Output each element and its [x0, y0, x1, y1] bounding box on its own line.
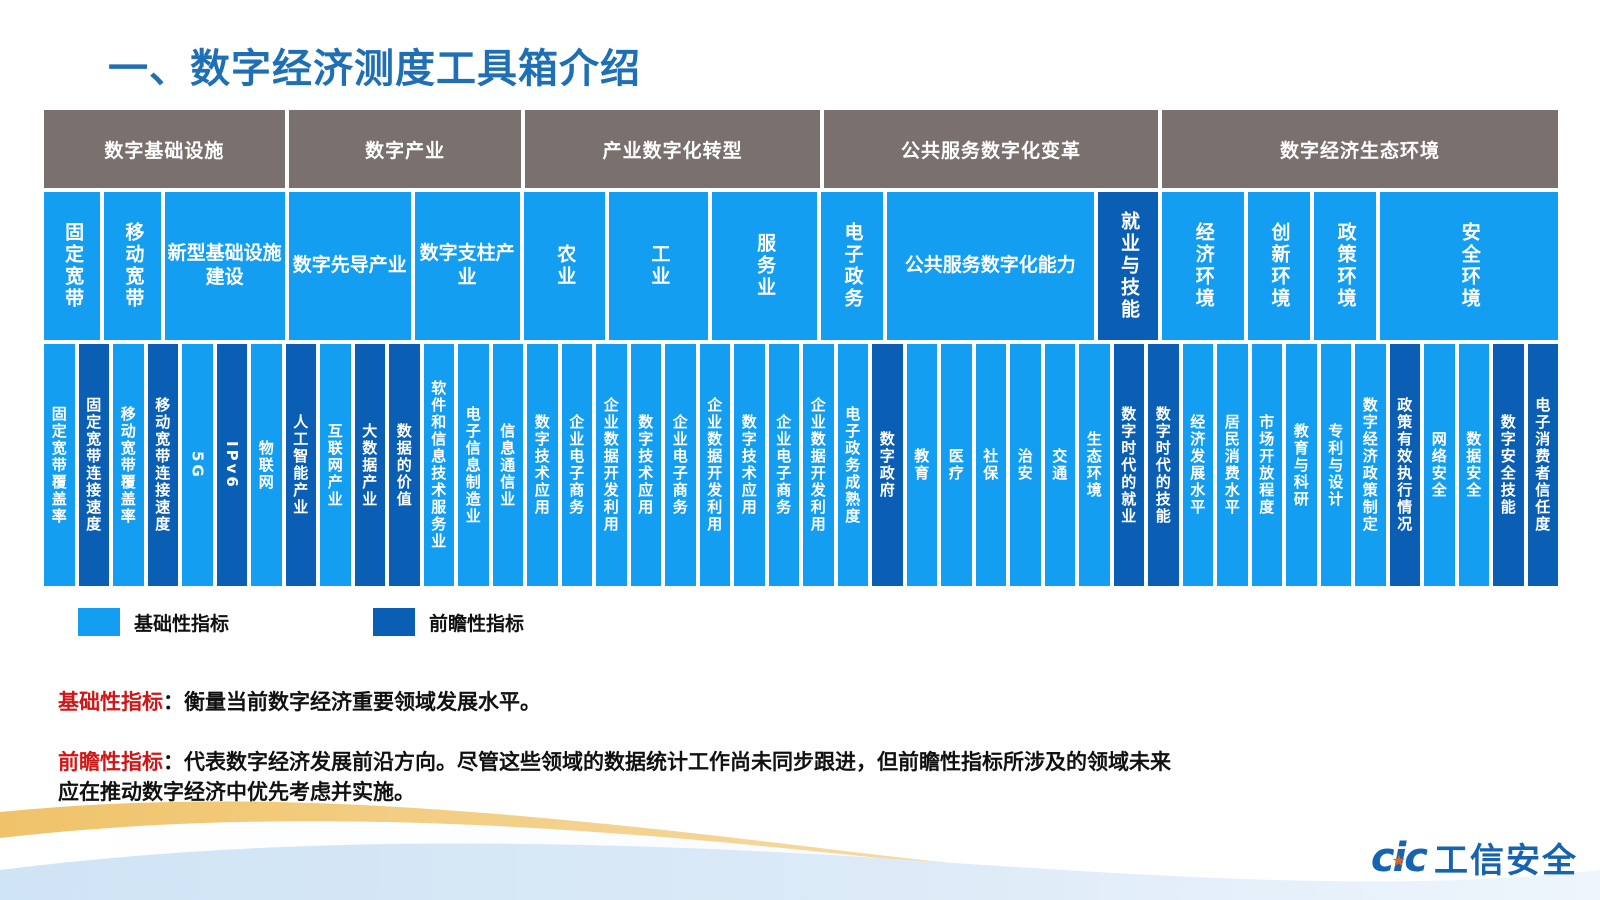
indicator-cell: 企业数据开发利用 [700, 344, 731, 586]
category-cell: 数字产业 [289, 110, 522, 188]
indicator-cell: 社保 [976, 344, 1007, 586]
indicator-cell: 人工智能产业 [286, 344, 317, 586]
note-key: 基础性指标 [58, 690, 163, 714]
indicator-cell: 数字时代的技能 [1148, 344, 1179, 586]
indicator-cell: 电子信息制造业 [458, 344, 489, 586]
indicator-matrix: 数字基础设施数字产业产业数字化转型公共服务数字化变革数字经济生态环境 固定宽带移… [44, 110, 1558, 586]
indicator-cell: 专利与设计 [1321, 344, 1352, 586]
category-cell: 产业数字化转型 [525, 110, 819, 188]
indicator-cell: 电子政务成熟度 [838, 344, 869, 586]
indicator-cell: 数字技术应用 [631, 344, 662, 586]
subcategory-cell: 移动宽带 [104, 192, 160, 340]
legend-swatch [78, 608, 120, 636]
logo-mark: cic ★ [1371, 835, 1426, 881]
logo-star-icon: ★ [1392, 851, 1404, 870]
indicator-cell: 移动宽带覆盖率 [113, 344, 144, 586]
subcategory-cell: 安全环境 [1380, 192, 1558, 340]
indicator-cell: 企业电子商务 [665, 344, 696, 586]
note-body: 代表数字经济发展前沿方向。尽管这些领域的数据统计工作尚未同步跟进，但前瞻性指标所… [58, 750, 1171, 804]
indicator-cell: 生态环境 [1079, 344, 1110, 586]
subcategory-cell: 数字支柱产业 [415, 192, 520, 340]
subcategory-cell: 数字先导产业 [289, 192, 411, 340]
legend-item: 前瞻性指标 [373, 608, 524, 636]
indicator-cell: 企业数据开发利用 [803, 344, 834, 586]
indicator-cell: 网络安全 [1424, 344, 1455, 586]
indicator-cell: 数字时代的就业 [1114, 344, 1145, 586]
indicator-cell: 教育与科研 [1286, 344, 1317, 586]
indicator-cell: 政策有效执行情况 [1390, 344, 1421, 586]
note-paragraph: 基础性指标：衡量当前数字经济重要领域发展水平。 [58, 688, 1188, 718]
indicator-cell: 交通 [1045, 344, 1076, 586]
indicator-cell: IPv6 [217, 344, 248, 586]
slide-root: 一、数字经济测度工具箱介绍 数字基础设施数字产业产业数字化转型公共服务数字化变革… [0, 0, 1600, 900]
indicator-cell: 数字技术应用 [527, 344, 558, 586]
indicator-cell: 企业电子商务 [562, 344, 593, 586]
indicator-cell: 互联网产业 [320, 344, 351, 586]
indicator-cell: 企业数据开发利用 [596, 344, 627, 586]
category-cell: 数字基础设施 [44, 110, 285, 188]
indicator-cell: 数据安全 [1459, 344, 1490, 586]
indicator-cell: 5G [182, 344, 213, 586]
subcategory-cell: 工业 [609, 192, 708, 340]
subcategory-cell: 服务业 [712, 192, 817, 340]
indicator-cell: 物联网 [251, 344, 282, 586]
note-paragraph: 前瞻性指标：代表数字经济发展前沿方向。尽管这些领域的数据统计工作尚未同步跟进，但… [58, 748, 1188, 808]
indicator-cell: 软件和信息技术服务业 [424, 344, 455, 586]
indicator-cell: 数字经济政策制定 [1355, 344, 1386, 586]
indicator-cell: 治安 [1010, 344, 1041, 586]
indicator-cell: 数据的价值 [389, 344, 420, 586]
brand-logo: cic ★ 工信安全 [1371, 833, 1578, 882]
legend-swatch [373, 608, 415, 636]
category-cell: 数字经济生态环境 [1162, 110, 1558, 188]
note-key: 前瞻性指标 [58, 750, 163, 774]
legend-item: 基础性指标 [78, 608, 229, 636]
subcategory-cell: 电子政务 [821, 192, 883, 340]
indicator-row: 固定宽带覆盖率固定宽带连接速度移动宽带覆盖率移动宽带连接速度5GIPv6物联网人… [44, 344, 1558, 586]
legend: 基础性指标前瞻性指标 [78, 608, 524, 636]
indicator-cell: 医疗 [941, 344, 972, 586]
subcategory-cell: 经济环境 [1162, 192, 1243, 340]
indicator-cell: 教育 [907, 344, 938, 586]
indicator-cell: 数字安全技能 [1493, 344, 1524, 586]
page-title: 一、数字经济测度工具箱介绍 [108, 36, 641, 94]
indicator-cell: 数字技术应用 [734, 344, 765, 586]
indicator-cell: 固定宽带覆盖率 [44, 344, 75, 586]
category-row: 数字基础设施数字产业产业数字化转型公共服务数字化变革数字经济生态环境 [44, 110, 1558, 188]
indicator-cell: 经济发展水平 [1183, 344, 1214, 586]
subcategory-cell: 新型基础设施建设 [165, 192, 285, 340]
logo-name: 工信安全 [1434, 833, 1578, 882]
note-body: 衡量当前数字经济重要领域发展水平。 [184, 690, 541, 714]
indicator-cell: 电子消费者信任度 [1528, 344, 1559, 586]
category-cell: 公共服务数字化变革 [824, 110, 1158, 188]
notes-block: 基础性指标：衡量当前数字经济重要领域发展水平。前瞻性指标：代表数字经济发展前沿方… [58, 688, 1188, 807]
legend-label: 基础性指标 [134, 609, 229, 636]
subcategory-cell: 农业 [524, 192, 605, 340]
indicator-cell: 信息通信业 [493, 344, 524, 586]
indicator-cell: 大数据产业 [355, 344, 386, 586]
indicator-cell: 市场开放程度 [1252, 344, 1283, 586]
indicator-cell: 移动宽带连接速度 [148, 344, 179, 586]
indicator-cell: 企业电子商务 [769, 344, 800, 586]
indicator-cell: 固定宽带连接速度 [79, 344, 110, 586]
note-separator: ： [163, 750, 184, 774]
legend-label: 前瞻性指标 [429, 609, 524, 636]
subcategory-cell: 创新环境 [1248, 192, 1310, 340]
indicator-cell: 居民消费水平 [1217, 344, 1248, 586]
subcategory-row: 固定宽带移动宽带新型基础设施建设数字先导产业数字支柱产业农业工业服务业电子政务公… [44, 192, 1558, 340]
note-separator: ： [163, 690, 184, 714]
indicator-cell: 数字政府 [872, 344, 903, 586]
subcategory-cell: 公共服务数字化能力 [887, 192, 1094, 340]
subcategory-cell: 政策环境 [1314, 192, 1376, 340]
subcategory-cell: 就业与技能 [1098, 192, 1158, 340]
subcategory-cell: 固定宽带 [44, 192, 100, 340]
